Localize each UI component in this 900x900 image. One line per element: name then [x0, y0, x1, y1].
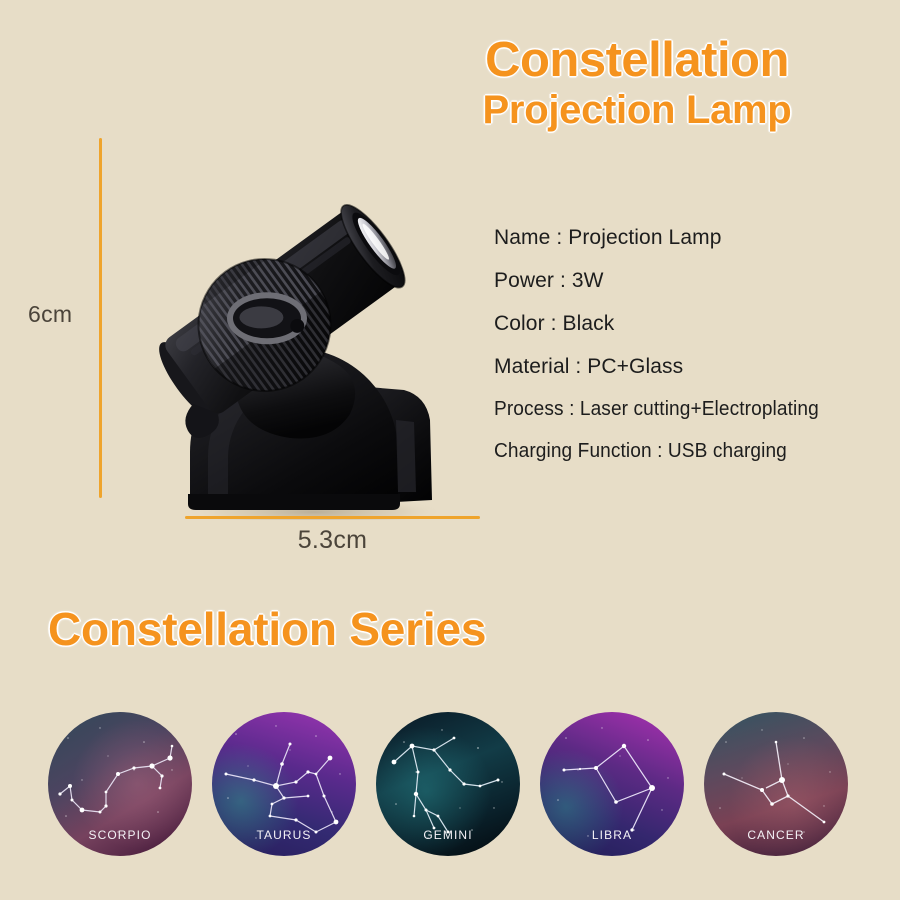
constellation-card-scorpio[interactable]: SCORPIO — [48, 712, 192, 856]
constellation-card-cancer[interactable]: CANCER — [704, 712, 848, 856]
spec-row-color: Color : Black — [494, 312, 886, 336]
spec-row-name: Name : Projection Lamp — [494, 226, 886, 250]
spec-row-process: Process : Laser cutting+Electroplating — [494, 398, 868, 421]
constellation-label: TAURUS — [212, 828, 356, 842]
title-line-1: Constellation — [402, 36, 872, 86]
height-dimension-line — [99, 138, 102, 498]
series-heading: Constellation Series — [48, 602, 486, 656]
spec-row-material: Material : PC+Glass — [494, 355, 886, 379]
constellation-label: CANCER — [704, 828, 848, 842]
constellation-card-libra[interactable]: LIBRA — [540, 712, 684, 856]
constellation-label: GEMINI — [376, 828, 520, 842]
width-dimension-label: 5.3cm — [0, 526, 665, 555]
product-infographic: Constellation Projection Lamp — [0, 0, 900, 900]
width-dimension-line — [185, 516, 480, 519]
spec-row-power: Power : 3W — [494, 269, 886, 293]
specification-list: Name : Projection Lamp Power : 3W Color … — [494, 226, 886, 482]
constellation-label: LIBRA — [540, 828, 684, 842]
constellation-card-taurus[interactable]: TAURUS — [212, 712, 356, 856]
spec-row-charging: Charging Function : USB charging — [494, 440, 868, 463]
constellation-label: SCORPIO — [48, 828, 192, 842]
constellation-gallery: SCORPIO — [0, 712, 900, 862]
page-title: Constellation Projection Lamp — [402, 36, 872, 131]
height-dimension-label: 6cm — [28, 301, 72, 328]
product-image — [96, 120, 496, 520]
constellation-card-gemini[interactable]: GEMINI — [376, 712, 520, 856]
